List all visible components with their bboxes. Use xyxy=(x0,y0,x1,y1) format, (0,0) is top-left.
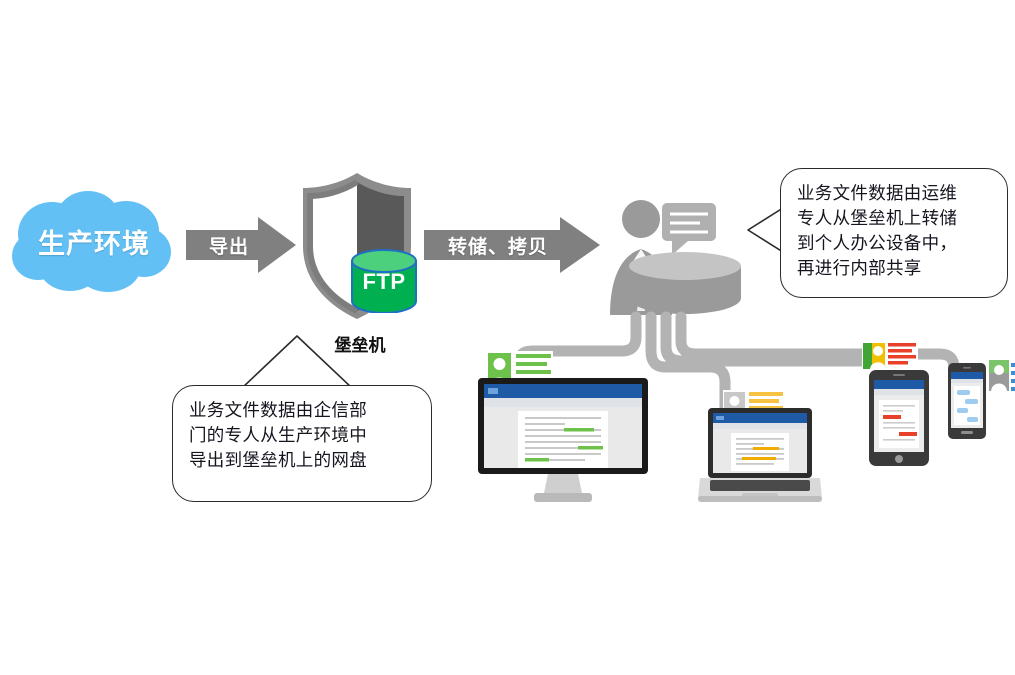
contact-card-phone xyxy=(988,359,1015,393)
callout-bastion-export-text: 业务文件数据由企信部 门的专人从生产环境中 导出到堡垒机上的网盘 xyxy=(189,398,417,473)
cloud-label: 生产环境 xyxy=(8,186,180,296)
diagram-canvas: 生产环境 导出 FTP 堡垒机 转储、拷贝 xyxy=(0,0,1015,675)
ftp-database: FTP xyxy=(350,249,418,313)
smartphone-icon xyxy=(948,363,986,439)
monitor-icon xyxy=(478,378,648,506)
export-arrow-label: 导出 xyxy=(186,215,272,275)
export-arrow: 导出 xyxy=(186,215,296,275)
tablet xyxy=(869,370,929,466)
callout-bastion-tail xyxy=(172,330,432,390)
tablet-icon xyxy=(869,370,929,466)
desktop-monitor xyxy=(478,378,648,506)
contact-card-tablet xyxy=(862,341,918,371)
callout-bastion-export: 业务文件数据由企信部 门的专人从生产环境中 导出到堡垒机上的网盘 xyxy=(172,385,432,502)
laptop-icon xyxy=(698,408,822,508)
contact-card-icon xyxy=(988,359,1015,393)
callout-ops-share-text: 业务文件数据由运维 专人从堡垒机上转储 到个人办公设备中， 再进行内部共享 xyxy=(797,181,997,281)
laptop xyxy=(698,408,822,508)
production-environment-cloud: 生产环境 xyxy=(8,186,180,296)
ftp-label: FTP xyxy=(350,269,418,295)
callout-ops-share: 业务文件数据由运维 专人从堡垒机上转储 到个人办公设备中， 再进行内部共享 xyxy=(780,168,1008,298)
callout-tail-icon xyxy=(172,330,432,390)
smartphone xyxy=(948,363,986,439)
contact-card-icon xyxy=(862,341,918,371)
